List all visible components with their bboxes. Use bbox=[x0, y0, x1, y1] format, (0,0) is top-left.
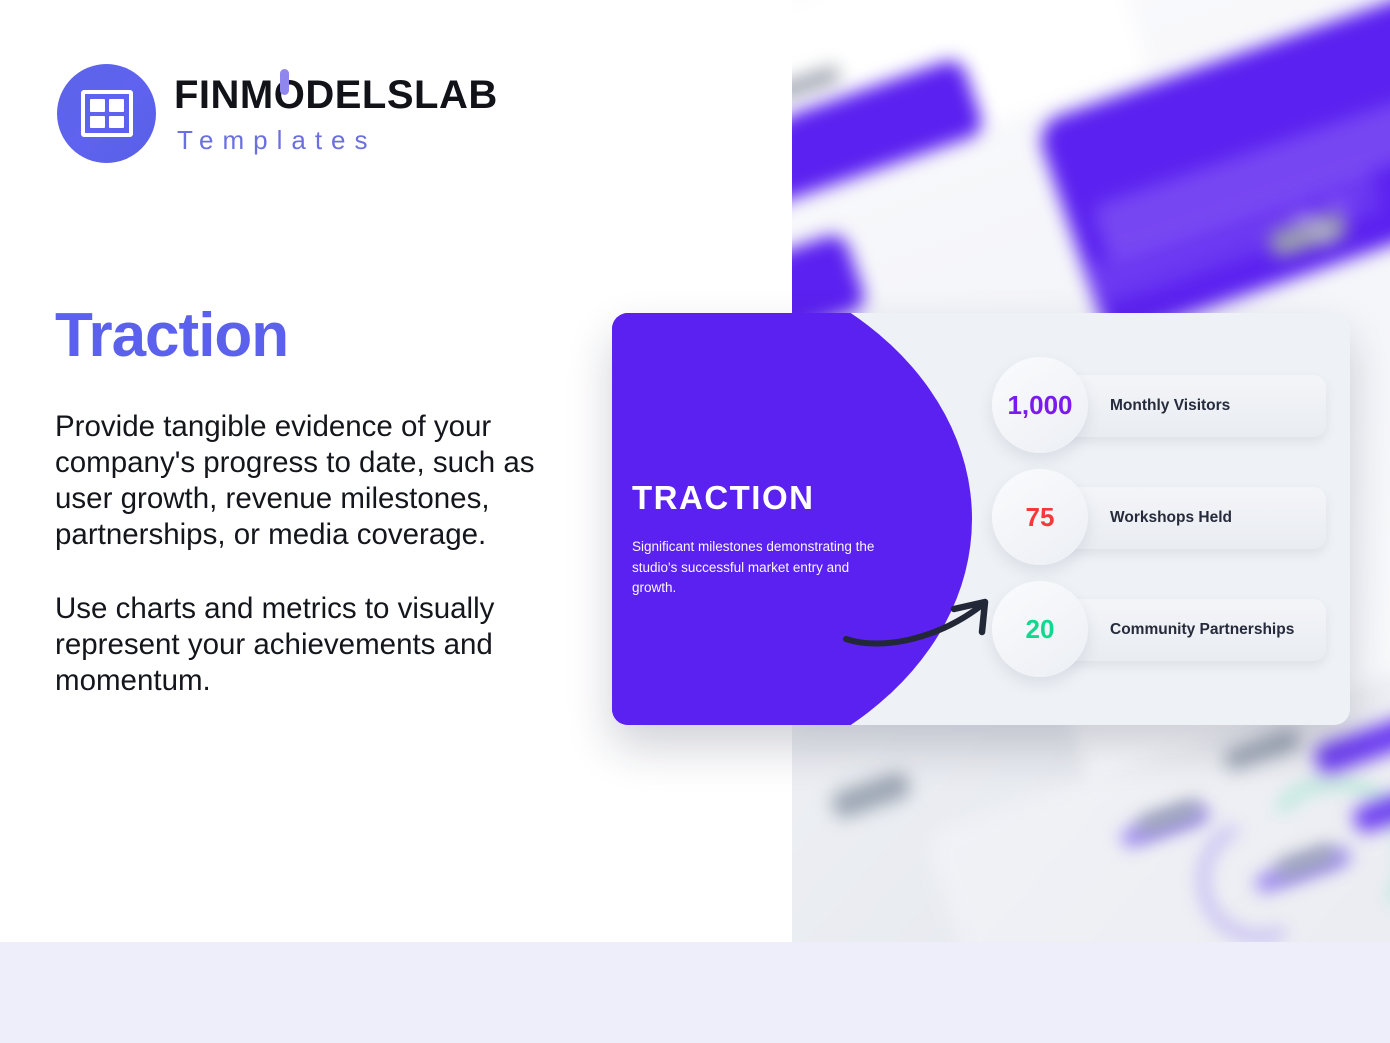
description-paragraph-1: Provide tangible evidence of your compan… bbox=[55, 409, 595, 553]
metric-label: Workshops Held bbox=[1110, 487, 1320, 549]
metric-bubble: 75 bbox=[992, 469, 1088, 565]
card-title: TRACTION bbox=[632, 479, 814, 517]
card-subtitle: Significant milestones demonstrating the… bbox=[632, 537, 890, 599]
brand-logo: FINMODELSLAB Templates bbox=[57, 64, 498, 163]
grid-cell bbox=[109, 99, 124, 112]
metric-label: Community Partnerships bbox=[1110, 599, 1320, 661]
page-title: Traction bbox=[55, 303, 288, 368]
brand-name-text: FINMODELSLAB bbox=[174, 73, 498, 117]
metric-row[interactable]: 1,000 Monthly Visitors bbox=[992, 357, 1332, 469]
grid-cell bbox=[90, 99, 105, 112]
brand-subtitle: Templates bbox=[177, 127, 498, 153]
metric-row[interactable]: 20 Community Partnerships bbox=[992, 581, 1332, 693]
footer-band bbox=[0, 942, 1390, 1043]
slide-preview-card[interactable]: TRACTION Significant milestones demonstr… bbox=[612, 313, 1350, 725]
brand-name: FINMODELSLAB bbox=[174, 75, 498, 115]
logo-mark bbox=[57, 64, 156, 163]
grid-square-icon bbox=[81, 90, 133, 137]
slide-stage: FINMODELSLAB Templates Traction Provide … bbox=[0, 0, 1390, 1043]
grid-cell bbox=[109, 116, 124, 129]
power-symbol-icon bbox=[280, 69, 289, 95]
metric-bubble: 20 bbox=[992, 581, 1088, 677]
description-paragraph-2: Use charts and metrics to visually repre… bbox=[55, 591, 595, 699]
brand-wordmark: FINMODELSLAB Templates bbox=[174, 75, 498, 153]
metric-value: 1,000 bbox=[1007, 392, 1072, 418]
metric-bubble: 1,000 bbox=[992, 357, 1088, 453]
description-block: Provide tangible evidence of your compan… bbox=[55, 409, 595, 699]
metric-value: 75 bbox=[1026, 504, 1055, 530]
curved-arrow-up-right-icon bbox=[842, 593, 1002, 653]
metric-label: Monthly Visitors bbox=[1110, 375, 1320, 437]
metrics-list: 1,000 Monthly Visitors 75 Workshops Held… bbox=[992, 357, 1332, 693]
metric-row[interactable]: 75 Workshops Held bbox=[992, 469, 1332, 581]
card-accent-circle bbox=[612, 313, 972, 725]
metric-value: 20 bbox=[1026, 616, 1055, 642]
grid-cell bbox=[90, 116, 105, 129]
